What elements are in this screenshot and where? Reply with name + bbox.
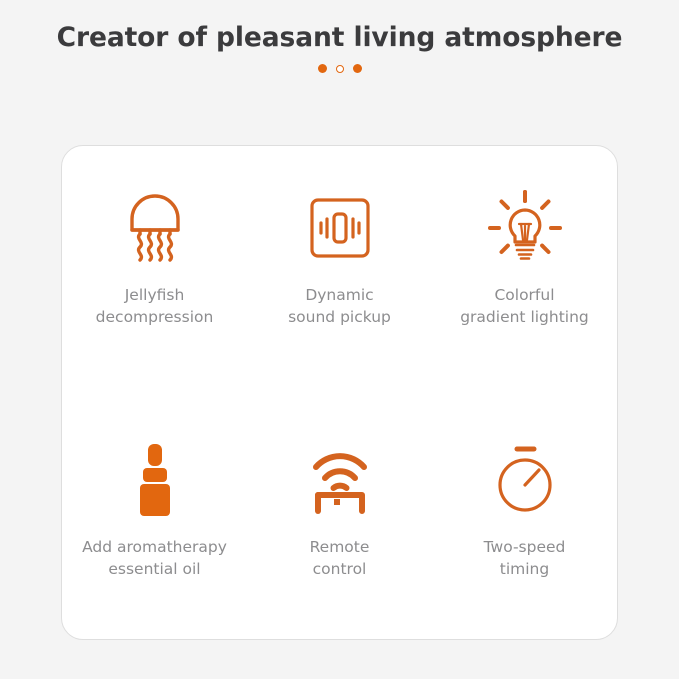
pager-dot-2[interactable] — [336, 65, 344, 73]
feature-card: Jellyfish decompression — [61, 145, 618, 640]
feature-caption-line2: decompression — [96, 306, 214, 328]
product-feature-page: Creator of pleasant living atmosphere — [0, 0, 679, 679]
feature-caption-line2: timing — [484, 558, 566, 580]
feature-caption-line1: Jellyfish — [125, 286, 185, 304]
feature-caption-line1: Two-speed — [484, 538, 566, 556]
feature-caption: Colorful gradient lighting — [460, 284, 589, 328]
feature-item-two-speed-timing[interactable]: Two-speed timing — [432, 393, 617, 640]
pager-dot-3[interactable] — [353, 64, 362, 73]
page-title: Creator of pleasant living atmosphere — [0, 20, 679, 56]
feature-caption: Two-speed timing — [484, 536, 566, 580]
feature-caption: Dynamic sound pickup — [288, 284, 391, 328]
carousel-pager[interactable] — [0, 64, 679, 73]
stopwatch-timer-icon — [482, 437, 568, 523]
pager-dot-1[interactable] — [318, 64, 327, 73]
feature-caption-line2: gradient lighting — [460, 306, 589, 328]
feature-item-gradient-lighting[interactable]: Colorful gradient lighting — [432, 146, 617, 393]
feature-item-jellyfish[interactable]: Jellyfish decompression — [62, 146, 247, 393]
lightbulb-icon — [482, 185, 568, 271]
feature-caption-line1: Remote — [310, 538, 370, 556]
jellyfish-icon — [112, 185, 198, 271]
feature-caption-line2: sound pickup — [288, 306, 391, 328]
remote-control-icon — [297, 437, 383, 523]
feature-item-essential-oil[interactable]: Add aromatherapy essential oil — [62, 393, 247, 640]
feature-caption: Add aromatherapy essential oil — [82, 536, 227, 580]
feature-caption: Remote control — [310, 536, 370, 580]
sound-pickup-icon — [297, 185, 383, 271]
feature-caption-line2: essential oil — [82, 558, 227, 580]
feature-caption-line1: Dynamic — [305, 286, 373, 304]
feature-item-sound-pickup[interactable]: Dynamic sound pickup — [247, 146, 432, 393]
essential-oil-bottle-icon — [112, 437, 198, 523]
feature-caption-line1: Colorful — [494, 286, 554, 304]
feature-item-remote-control[interactable]: Remote control — [247, 393, 432, 640]
feature-caption: Jellyfish decompression — [96, 284, 214, 328]
feature-caption-line2: control — [310, 558, 370, 580]
feature-grid: Jellyfish decompression — [62, 146, 617, 639]
feature-caption-line1: Add aromatherapy — [82, 538, 227, 556]
